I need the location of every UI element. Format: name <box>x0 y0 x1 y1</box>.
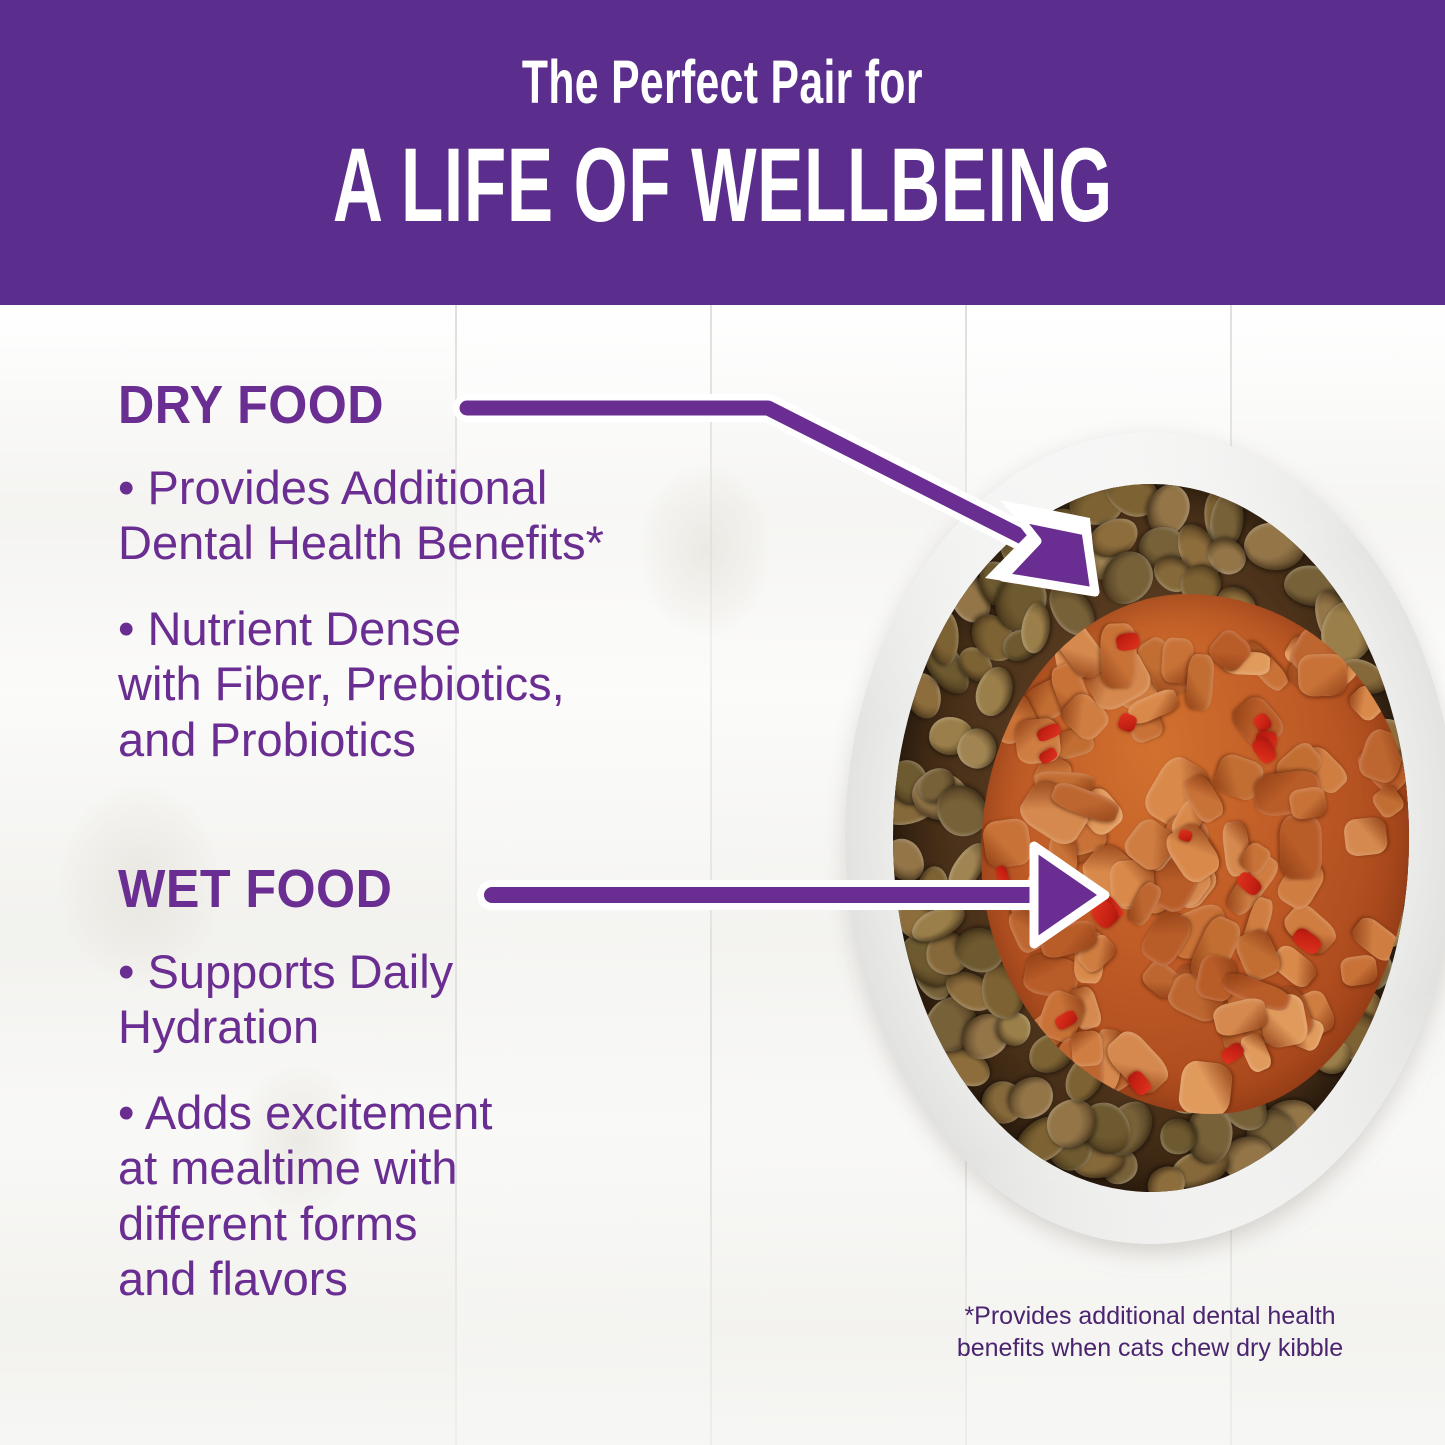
bullet-line: different forms <box>118 1197 418 1250</box>
wet-food-bullets: • Supports Daily Hydration • Adds excite… <box>118 944 818 1337</box>
bullet-line: • Nutrient Dense <box>118 602 461 655</box>
bullet-line: • Adds excitement <box>118 1086 492 1139</box>
banner-subtitle: The Perfect Pair for <box>522 52 923 113</box>
wet-food-chunk <box>1342 817 1387 858</box>
wet-food-chunk <box>1280 815 1323 879</box>
bullet-line: at mealtime with <box>118 1141 458 1194</box>
wet-food-chunk <box>1184 654 1214 711</box>
bowl-interior <box>893 484 1409 1192</box>
dry-food-block: DRY FOOD <box>118 378 818 432</box>
promo-graphic: The Perfect Pair for A LIFE OF WELLBEING… <box>0 0 1445 1445</box>
wet-food-heading: WET FOOD <box>118 862 769 916</box>
banner-title: A LIFE OF WELLBEING <box>333 133 1113 238</box>
footnote: *Provides additional dental health benef… <box>930 1300 1370 1364</box>
bullet-line: • Supports Daily <box>118 945 453 998</box>
bullet-line: Dental Health Benefits* <box>118 516 604 569</box>
footnote-line: *Provides additional dental health <box>964 1302 1335 1330</box>
wet-food-chunk <box>1339 954 1379 988</box>
wet-food-chunk <box>1287 785 1328 821</box>
header-banner: The Perfect Pair for A LIFE OF WELLBEING <box>0 0 1445 305</box>
wet-food-block: WET FOOD <box>118 862 818 916</box>
dry-food-heading: DRY FOOD <box>118 378 769 432</box>
tomato-piece <box>995 865 1010 888</box>
wet-food-center <box>981 594 1409 1114</box>
wet-food-chunk <box>1070 1029 1103 1066</box>
list-item: • Provides Additional Dental Health Bene… <box>118 460 818 571</box>
bullet-line: and flavors <box>118 1252 348 1305</box>
footnote-line: benefits when cats chew dry kibble <box>957 1334 1343 1362</box>
kibble-piece <box>1242 520 1307 573</box>
wet-food-chunk <box>1177 1059 1234 1114</box>
dry-food-bullets: • Provides Additional Dental Health Bene… <box>118 460 818 797</box>
bullet-line: with Fiber, Prebiotics, <box>118 657 565 710</box>
wet-food-chunk <box>1297 653 1348 697</box>
bullet-line: Hydration <box>118 1000 319 1053</box>
pet-food-bowl-image <box>845 432 1445 1254</box>
list-item: • Supports Daily Hydration <box>118 944 818 1055</box>
wet-food-chunk <box>981 816 1033 869</box>
wet-food-chunk <box>1370 783 1407 821</box>
bullet-line: and Probiotics <box>118 713 416 766</box>
bowl-rim <box>845 432 1445 1244</box>
bullet-line: • Provides Additional <box>118 461 547 514</box>
list-item: • Nutrient Dense with Fiber, Prebiotics,… <box>118 601 818 767</box>
list-item: • Adds excitement at mealtime with diffe… <box>118 1085 818 1307</box>
